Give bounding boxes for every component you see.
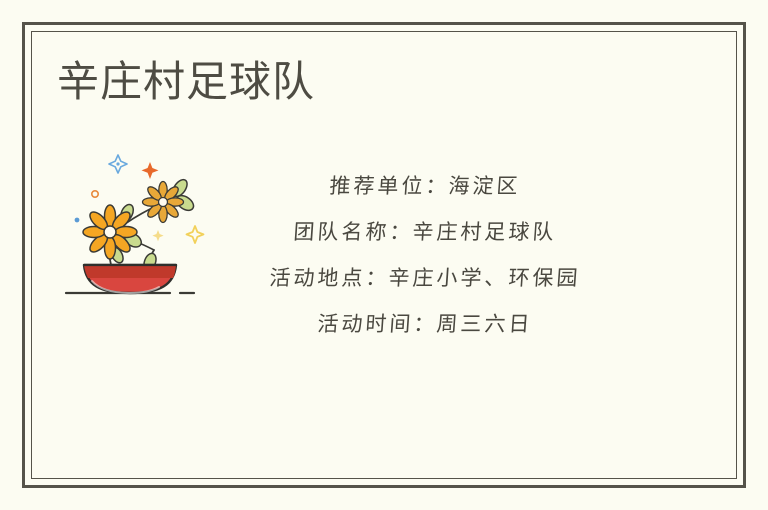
info-sep-3: ： <box>413 312 438 336</box>
blue-dot <box>75 218 80 223</box>
info-line-recommending-unit: 推荐单位：海淀区 <box>223 163 626 209</box>
info-value-team-name: 辛庄村足球队 <box>412 220 558 244</box>
info-sep-1: ： <box>389 220 414 244</box>
info-block: 推荐单位：海淀区 团队名称：辛庄村足球队 活动地点：辛庄小学、环保园 活动时间：… <box>225 163 625 347</box>
info-value-activity-time: 周三六日 <box>436 312 534 336</box>
info-label-recommending-unit: 推荐单位 <box>329 174 427 198</box>
orange-star <box>142 162 159 179</box>
info-label-team-name: 团队名称 <box>293 220 391 244</box>
potted-flowers-illustration <box>62 140 222 310</box>
info-sep-2: ： <box>365 266 390 290</box>
info-sep-0: ： <box>425 174 450 198</box>
info-value-activity-location: 辛庄小学、环保园 <box>388 266 582 290</box>
yellow-sparkle-small <box>152 230 163 241</box>
info-label-activity-location: 活动地点 <box>269 266 367 290</box>
certificate-card: 辛庄村足球队 <box>0 0 768 510</box>
page-title: 辛庄村足球队 <box>57 58 315 105</box>
info-line-team-name: 团队名称：辛庄村足球队 <box>223 209 626 255</box>
info-line-activity-time: 活动时间：周三六日 <box>223 301 626 347</box>
orange-dot <box>92 191 98 197</box>
info-label-activity-time: 活动时间 <box>317 312 415 336</box>
blue-sparkle <box>109 155 127 173</box>
info-value-recommending-unit: 海淀区 <box>448 174 522 198</box>
info-line-activity-location: 活动地点：辛庄小学、环保园 <box>223 255 626 301</box>
yellow-sparkle <box>187 226 204 243</box>
